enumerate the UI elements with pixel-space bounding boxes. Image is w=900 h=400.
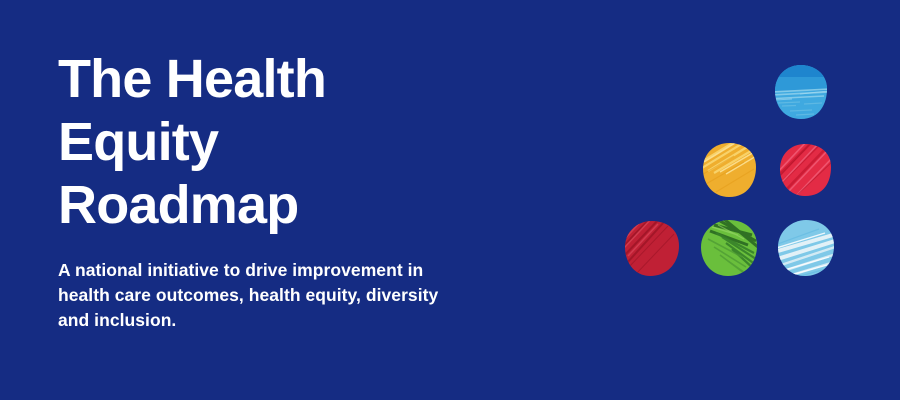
crimson-circle-icon — [622, 218, 682, 278]
banner-text-block: The Health Equity Roadmap A national ini… — [58, 48, 578, 334]
blue-circle-icon — [770, 61, 832, 123]
red-circle-icon — [777, 141, 835, 199]
light-blue-circle-icon — [775, 217, 837, 279]
amber-circle-icon — [700, 140, 760, 200]
banner-subtitle: A national initiative to drive improveme… — [58, 238, 578, 334]
page-title: The Health Equity Roadmap — [58, 48, 578, 238]
health-equity-roadmap-banner: The Health Equity Roadmap A national ini… — [0, 0, 900, 400]
green-circle-icon — [698, 217, 760, 279]
